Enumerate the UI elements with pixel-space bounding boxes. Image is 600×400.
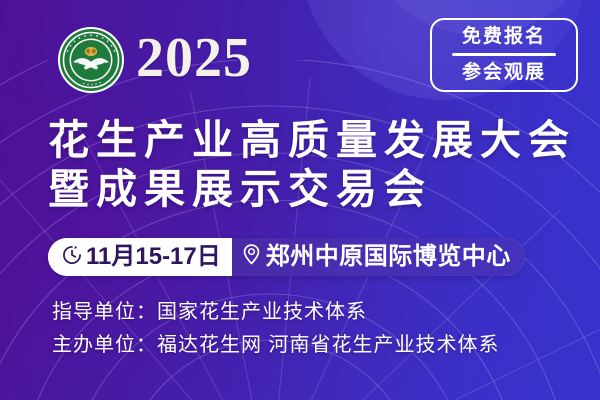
event-poster: 2025 免费报名 参会观展 花生产业高质量发展大会 暨成果展示交易会 11月1… [0,0,600,400]
event-title: 花生产业高质量发展大会 暨成果展示交易会 [48,116,568,214]
badge-line-free-registration: 免费报名 [462,22,546,52]
title-line-2: 暨成果展示交易会 [48,165,568,214]
host-unit-line: 主办单位：福达花生网 河南省花生产业技术体系 [52,329,582,362]
event-venue: 郑州中原国际博览中心 [266,238,511,276]
poster-header: 2025 免费报名 参会观展 [0,0,600,108]
date-section: 11月15-17日 [48,238,232,276]
venue-section: 郑州中原国际博览中心 [232,238,525,276]
guidance-unit-line: 指导单位：国家花生产业技术体系 [52,296,582,329]
organizer-info: 指导单位：国家花生产业技术体系 主办单位：福达花生网 河南省花生产业技术体系 [52,296,582,362]
badge-line-attend-visit: 参会观展 [462,58,546,88]
location-pin-icon [241,243,262,271]
event-date: 11月15-17日 [86,238,221,276]
badge-divider [452,53,556,56]
free-registration-badge[interactable]: 免费报名 参会观展 [430,18,578,92]
date-venue-bar: 11月15-17日 郑州中原国际博览中心 [48,238,525,276]
year-label: 2025 [136,24,252,92]
conference-logo [57,26,125,94]
title-line-1: 花生产业高质量发展大会 [48,116,568,165]
clock-icon [61,244,83,271]
